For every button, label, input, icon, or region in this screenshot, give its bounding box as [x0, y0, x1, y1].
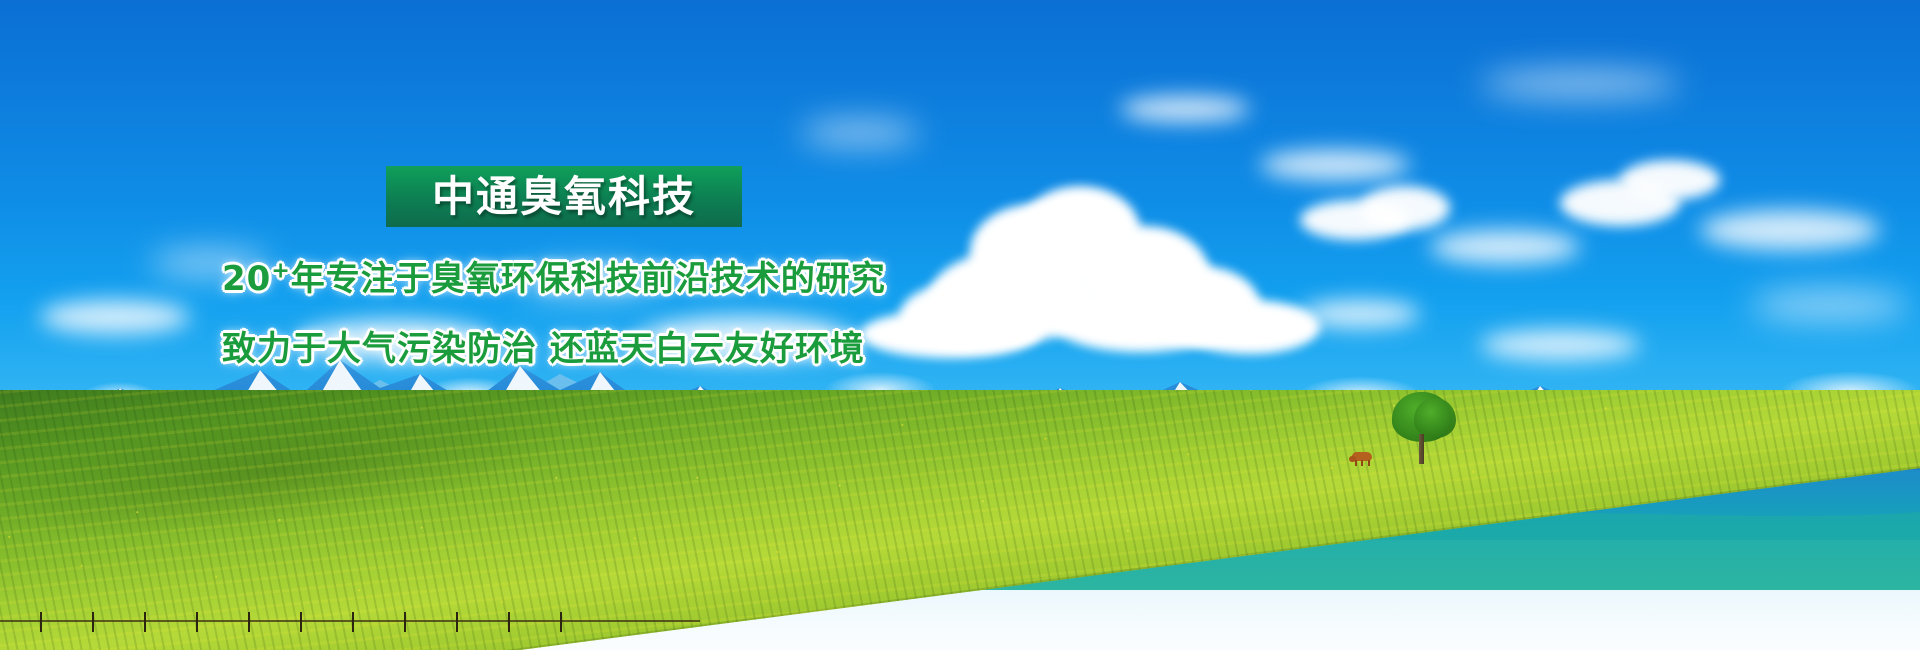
fence-post	[248, 612, 250, 632]
fence-post	[300, 612, 302, 632]
tagline-1-superscript: +	[271, 259, 290, 284]
cloud-icon	[1360, 186, 1450, 230]
fence-post	[144, 612, 146, 632]
meadow-foreground	[0, 390, 1920, 650]
cloud-icon	[1260, 150, 1410, 180]
cloud-icon	[1120, 96, 1250, 122]
cloud-icon	[1430, 230, 1580, 264]
fence-post	[404, 612, 406, 632]
fence-post	[456, 612, 458, 632]
grazing-horse-icon	[1352, 452, 1374, 466]
hero-banner: 中通臭氧科技 20+年专注于臭氧环保科技前沿技术的研究 致力于大气污染防治 还蓝…	[0, 0, 1920, 650]
fence-post	[508, 612, 510, 632]
horse-leg	[1355, 460, 1357, 466]
grass-slope	[0, 390, 1920, 650]
cloud-icon	[1750, 290, 1910, 320]
cumulus-cloud-icon	[900, 180, 1260, 350]
cloud-icon	[1700, 210, 1880, 250]
fence-post	[196, 612, 198, 632]
horse-leg	[1368, 460, 1370, 466]
cloud-icon	[800, 120, 920, 146]
fence-rail	[0, 620, 700, 622]
fence-post	[352, 612, 354, 632]
tagline-1-rest: 年专注于臭氧环保科技前沿技术的研究	[291, 259, 886, 299]
cloud-icon	[1480, 70, 1680, 98]
fence-post	[92, 612, 94, 632]
brand-title-text: 中通臭氧科技	[432, 176, 696, 218]
tagline-line-2: 致力于大气污染防治 还蓝天白云友好环境	[222, 332, 865, 366]
horse-leg	[1361, 460, 1363, 466]
tree-crown	[1414, 398, 1456, 438]
fence-post	[40, 612, 42, 632]
tagline-2-rest: 致力于大气污染防治 还蓝天白云友好环境	[222, 329, 865, 369]
cloud-icon	[40, 300, 190, 334]
tree-trunk	[1419, 434, 1424, 464]
lone-tree-icon	[1392, 392, 1456, 464]
brand-title-plate[interactable]: 中通臭氧科技	[386, 166, 742, 227]
tagline-1-prefix: 20	[222, 259, 271, 299]
fence	[0, 612, 700, 638]
fence-post	[560, 612, 562, 632]
cloud-icon	[1620, 160, 1720, 200]
tagline-line-1: 20+年专注于臭氧环保科技前沿技术的研究	[222, 262, 886, 296]
